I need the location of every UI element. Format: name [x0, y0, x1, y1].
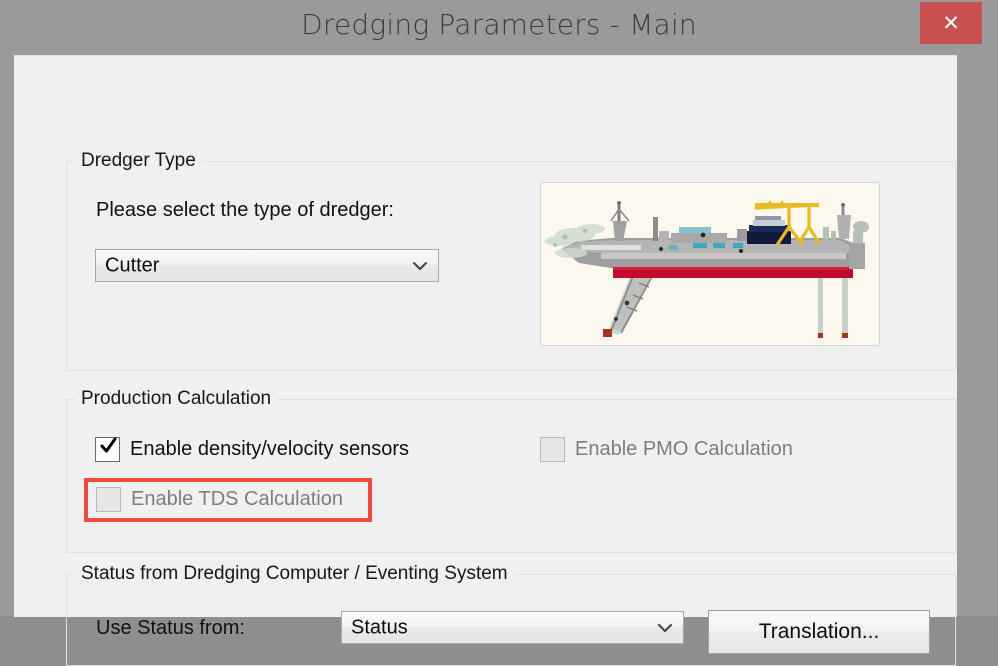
checkbox-label: Enable TDS Calculation: [131, 488, 343, 511]
checkbox-label: Enable PMO Calculation: [575, 438, 793, 461]
checkbox-enable-density-velocity-sensors[interactable]: Enable density/velocity sensors: [95, 437, 409, 462]
status-source-dropdown-value: Status: [351, 616, 408, 639]
checkbox-enable-tds-calculation: Enable TDS Calculation: [96, 487, 343, 512]
checkbox-box-checked[interactable]: [95, 437, 120, 462]
dialog-content: Dredger Type Please select the type of d…: [14, 55, 957, 617]
use-status-from-label: Use Status from:: [96, 617, 245, 640]
dredger-type-dropdown[interactable]: Cutter: [95, 249, 439, 282]
translation-button[interactable]: Translation...: [708, 610, 930, 654]
checkbox-label: Enable density/velocity sensors: [130, 438, 409, 461]
checkbox-box-unchecked-disabled: [96, 487, 121, 512]
group-production-calculation: Production Calculation: [66, 399, 956, 553]
group-dredger-type-label: Dredger Type: [75, 150, 202, 172]
window-title: Dredging Parameters - Main: [0, 8, 998, 41]
chevron-down-icon: [657, 623, 673, 633]
checkmark-icon: [99, 436, 118, 455]
chevron-down-icon: [412, 261, 428, 271]
translation-button-label: Translation...: [709, 611, 929, 653]
checkbox-box-unchecked-disabled: [540, 437, 565, 462]
cutter-suction-dredger-illustration: [541, 183, 879, 345]
dredger-image-panel: [540, 182, 880, 346]
dialog-window: Dredging Parameters - Main ✕ Dredger Typ…: [0, 0, 998, 616]
close-icon: ✕: [920, 2, 982, 44]
group-production-calculation-label: Production Calculation: [75, 388, 277, 410]
close-button[interactable]: ✕: [920, 2, 982, 44]
dredger-type-dropdown-value: Cutter: [105, 254, 159, 277]
dredger-type-prompt: Please select the type of dredger:: [96, 199, 394, 222]
title-bar: Dredging Parameters - Main ✕: [0, 0, 998, 55]
group-status-source-label: Status from Dredging Computer / Eventing…: [75, 563, 514, 585]
checkbox-enable-pmo-calculation: Enable PMO Calculation: [540, 437, 793, 462]
